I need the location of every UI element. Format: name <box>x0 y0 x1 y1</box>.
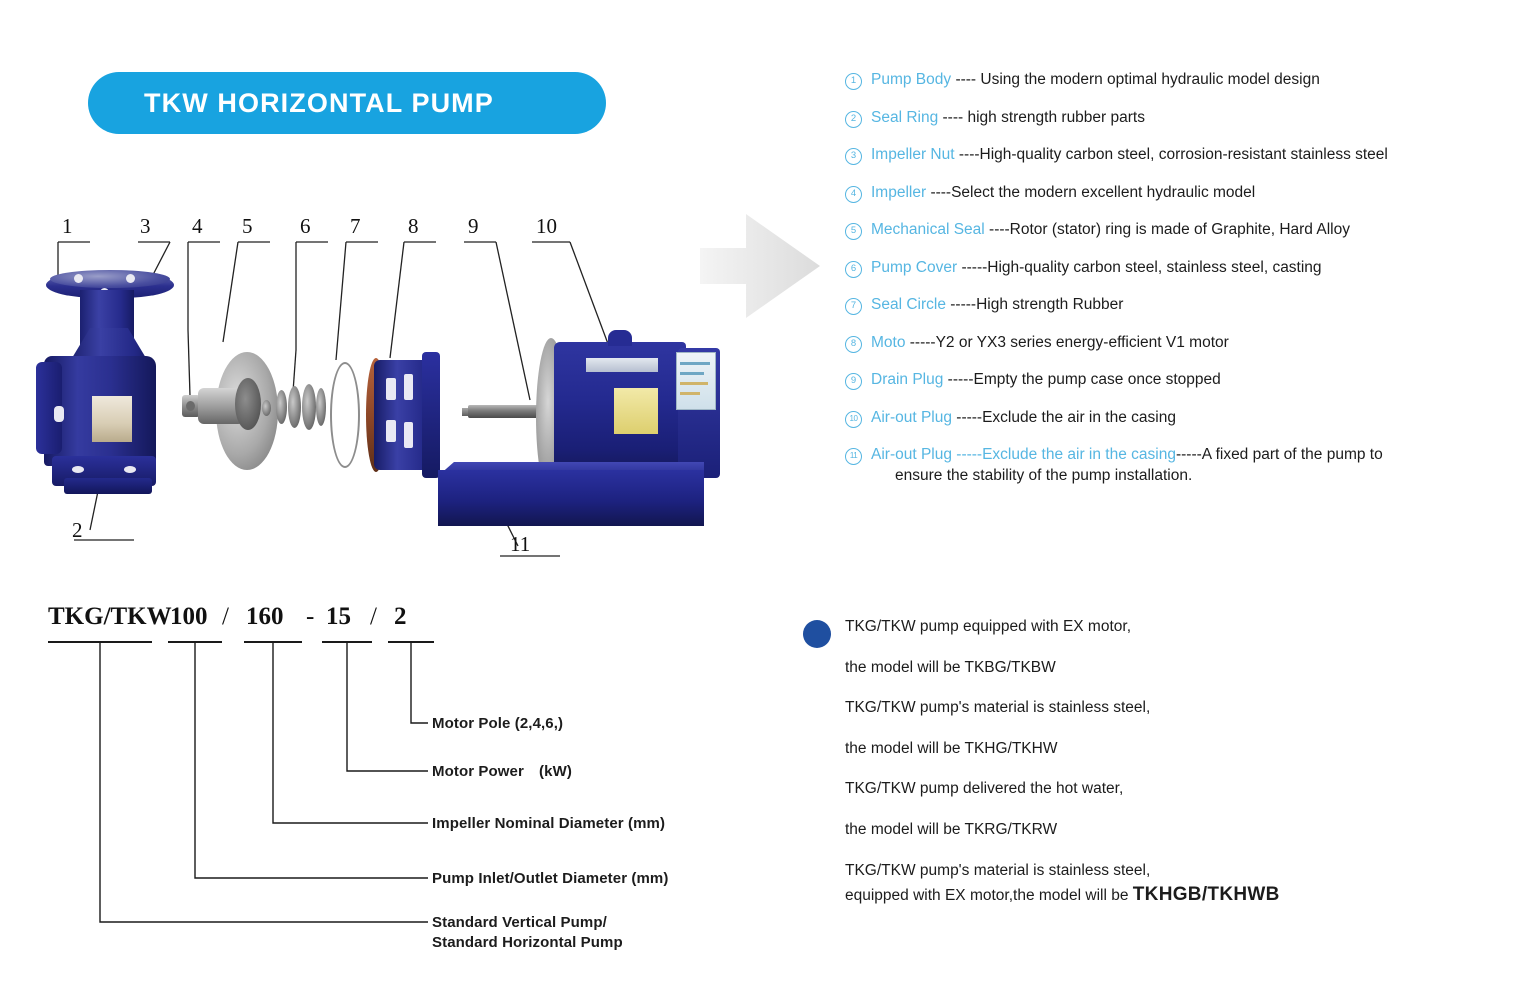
model-label-standard-horiz: Standard Horizontal Pump <box>432 933 623 953</box>
legend-item-8: 8 Moto -----Y2 or YX3 series energy-effi… <box>845 333 1495 353</box>
legend-number-circle-2: 2 <box>845 111 862 128</box>
legend-part-desc-7: -----High strength Rubber <box>946 296 1123 313</box>
legend-part-name-4: Impeller <box>871 184 926 201</box>
legend-part-desc-4: ----Select the modern excellent hydrauli… <box>926 184 1255 201</box>
legend-item-6: 6 Pump Cover -----High-quality carbon st… <box>845 258 1495 278</box>
legend-text-2: Seal Ring ---- high strength rubber part… <box>871 108 1145 127</box>
legend-part-name-10: Air-out Plug <box>871 409 952 426</box>
legend-part-name-2: Seal Ring <box>871 109 938 126</box>
legend-part-desc-11: -----A fixed part of the pump to <box>1176 446 1383 463</box>
legend-text-5: Mechanical Seal ----Rotor (stator) ring … <box>871 220 1350 239</box>
legend-part-desc-8: -----Y2 or YX3 series energy-efficient V… <box>905 334 1228 351</box>
legend-part-name-3: Impeller Nut <box>871 146 955 163</box>
model-label-motor-pole: Motor Pole (2,4,6,) <box>432 714 563 734</box>
legend-part-desc-1: ---- Using the modern optimal hydraulic … <box>951 71 1320 88</box>
legend-item-4: 4 Impeller ----Select the modern excelle… <box>845 183 1495 203</box>
note-last-prefix: equipped with EX motor,the model will be <box>845 887 1133 904</box>
legend-part-desc-5: ----Rotor (stator) ring is made of Graph… <box>985 221 1350 238</box>
legend-number-circle-7: 7 <box>845 298 862 315</box>
legend-part-desc-9: -----Empty the pump case once stopped <box>943 371 1220 388</box>
pump-exploded-diagram: 1 3 4 5 6 7 8 9 10 2 11 <box>30 210 710 570</box>
note-line-8: equipped with EX motor,the model will be… <box>845 884 1445 907</box>
legend-part-name-1: Pump Body <box>871 71 951 88</box>
legend-item-3: 3 Impeller Nut ----High-quality carbon s… <box>845 145 1495 165</box>
legend-part-desc-blue-11: -----Exclude the air in the casing <box>952 446 1176 463</box>
legend-text-11: Air-out Plug -----Exclude the air in the… <box>871 445 1383 486</box>
legend-number-circle-10: 10 <box>845 411 862 428</box>
model-label-impeller-dia: Impeller Nominal Diameter (mm) <box>432 814 665 834</box>
page-title-banner: TKW HORIZONTAL PUMP <box>88 72 606 134</box>
note-line-1: TKG/TKW pump equipped with EX motor, <box>845 618 1445 637</box>
legend-number-circle-9: 9 <box>845 373 862 390</box>
legend-text-8: Moto -----Y2 or YX3 series energy-effici… <box>871 333 1229 352</box>
legend-text-9: Drain Plug -----Empty the pump case once… <box>871 370 1221 389</box>
legend-text-10: Air-out Plug -----Exclude the air in the… <box>871 408 1176 427</box>
note-line-6: the model will be TKRG/TKRW <box>845 821 1445 840</box>
note-last-model: TKHGB/TKHWB <box>1133 884 1280 905</box>
legend-text-7: Seal Circle -----High strength Rubber <box>871 295 1123 314</box>
seal-circle-part <box>330 362 360 468</box>
model-label-inlet-outlet: Pump Inlet/Outlet Diameter (mm) <box>432 869 668 889</box>
model-leader-lines <box>30 595 730 965</box>
bullet-dot-icon <box>803 620 831 648</box>
legend-text-6: Pump Cover -----High-quality carbon stee… <box>871 258 1322 277</box>
legend-number-circle-1: 1 <box>845 73 862 90</box>
legend-item-10: 10 Air-out Plug -----Exclude the air in … <box>845 408 1495 428</box>
legend-part-name-6: Pump Cover <box>871 259 957 276</box>
legend-number-circle-8: 8 <box>845 336 862 353</box>
legend-text-3: Impeller Nut ----High-quality carbon ste… <box>871 145 1388 164</box>
legend-item-5: 5 Mechanical Seal ----Rotor (stator) rin… <box>845 220 1495 240</box>
model-label-motor-power: Motor Power (kW) <box>432 762 572 782</box>
page-title: TKW HORIZONTAL PUMP <box>88 88 494 119</box>
legend-part-name-5: Mechanical Seal <box>871 221 985 238</box>
legend-continuation-11: ensure the stability of the pump install… <box>895 466 1383 485</box>
legend-part-desc-6: -----High-quality carbon steel, stainles… <box>957 259 1321 276</box>
legend-part-desc-3: ----High-quality carbon steel, corrosion… <box>955 146 1388 163</box>
legend-number-circle-6: 6 <box>845 261 862 278</box>
note-line-7: TKG/TKW pump's material is stainless ste… <box>845 862 1445 881</box>
legend-number-circle-5: 5 <box>845 223 862 240</box>
legend-text-1: Pump Body ---- Using the modern optimal … <box>871 70 1320 89</box>
legend-part-desc-10: -----Exclude the air in the casing <box>952 409 1176 426</box>
right-arrow-icon <box>700 212 822 320</box>
model-designation-diagram: TKG/TKW 100 / 160 - 15 / 2 Motor Pole (2… <box>30 595 730 965</box>
legend-number-circle-4: 4 <box>845 186 862 203</box>
legend-number-circle-11: 11 <box>845 448 862 465</box>
model-label-standard-vert: Standard Vertical Pump/ <box>432 913 607 933</box>
model-variant-notes: TKG/TKW pump equipped with EX motor, the… <box>845 618 1445 929</box>
legend-part-desc-2: ---- high strength rubber parts <box>938 109 1145 126</box>
legend-item-1: 1 Pump Body ---- Using the modern optima… <box>845 70 1495 90</box>
legend-item-2: 2 Seal Ring ---- high strength rubber pa… <box>845 108 1495 128</box>
legend-part-name-9: Drain Plug <box>871 371 943 388</box>
legend-text-4: Impeller ----Select the modern excellent… <box>871 183 1255 202</box>
legend-item-9: 9 Drain Plug -----Empty the pump case on… <box>845 370 1495 390</box>
callout-number-2: 2 <box>72 518 83 543</box>
note-line-5: TKG/TKW pump delivered the hot water, <box>845 780 1445 799</box>
callout-number-11: 11 <box>510 532 530 557</box>
legend-part-name-11: Air-out Plug <box>871 446 952 463</box>
note-line-3: TKG/TKW pump's material is stainless ste… <box>845 699 1445 718</box>
note-line-4: the model will be TKHG/TKHW <box>845 740 1445 759</box>
legend-part-name-8: Moto <box>871 334 905 351</box>
legend-item-11: 11 Air-out Plug -----Exclude the air in … <box>845 445 1495 486</box>
parts-legend-list: 1 Pump Body ---- Using the modern optima… <box>845 70 1495 503</box>
legend-item-7: 7 Seal Circle -----High strength Rubber <box>845 295 1495 315</box>
legend-part-name-7: Seal Circle <box>871 296 946 313</box>
note-line-2: the model will be TKBG/TKBW <box>845 659 1445 678</box>
legend-number-circle-3: 3 <box>845 148 862 165</box>
